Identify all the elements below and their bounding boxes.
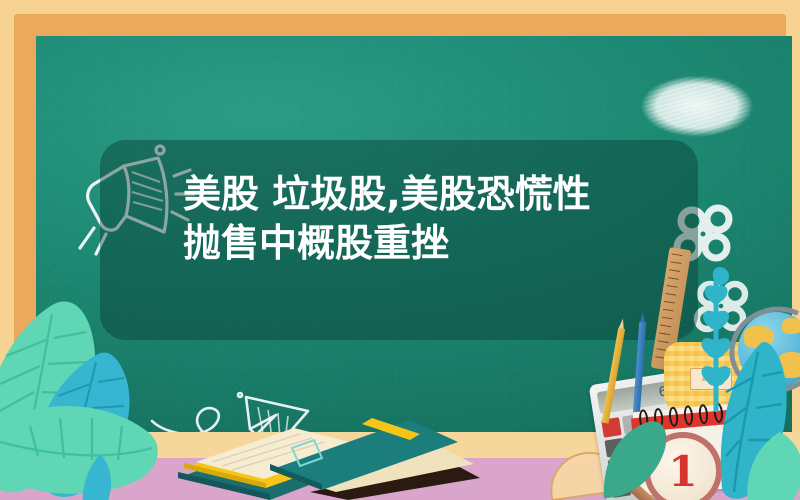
title-line-1: 美股 垃圾股,美股恐慌性: [183, 170, 653, 219]
book-stack-center: [252, 418, 482, 500]
title-line-2: 抛售中概股重挫: [183, 219, 653, 268]
plant-mint-leaf-right: [744, 430, 800, 500]
plant-green-pot-leaf: [600, 420, 670, 500]
plant-blue-feather-leaf: [70, 452, 130, 500]
page-title: 美股 垃圾股,美股恐慌性 抛售中概股重挫: [183, 170, 653, 268]
poster-canvas: 美股 垃圾股,美股恐慌性 抛售中概股重挫: [0, 0, 800, 500]
